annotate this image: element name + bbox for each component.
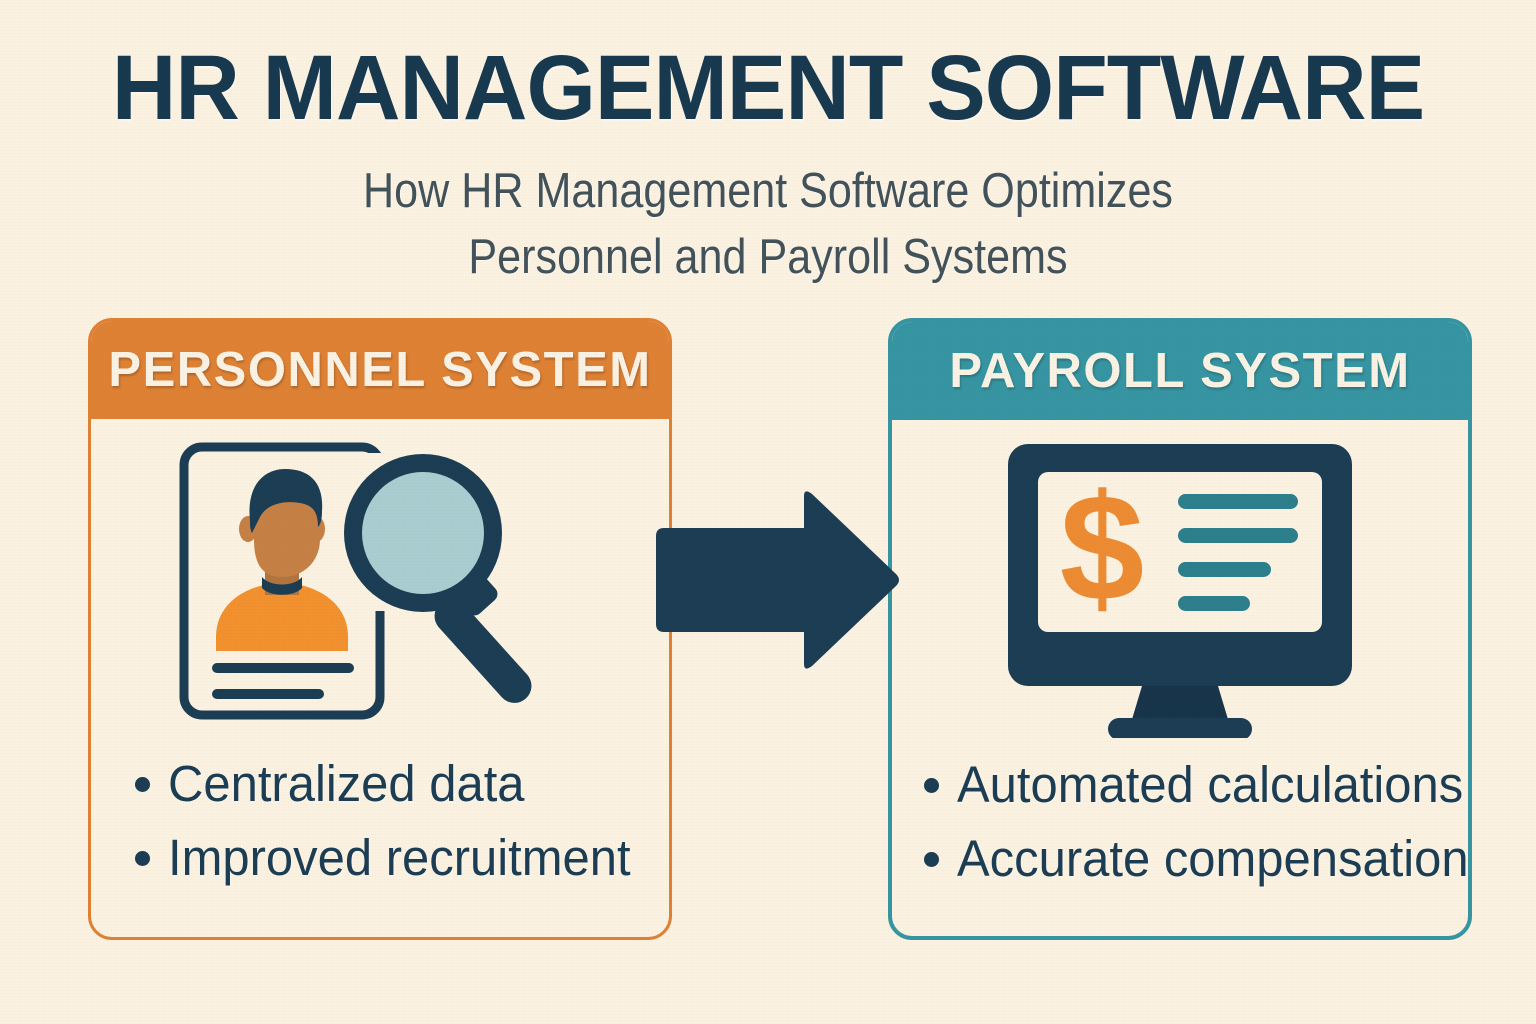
bullet-list-payroll: Automated calculations Accurate compensa… [892, 756, 1468, 888]
id-card-line-2 [212, 689, 324, 699]
dollar-sign-icon: $ [1060, 463, 1145, 633]
page-title: HR MANAGEMENT SOFTWARE [23, 36, 1513, 141]
bullet-dot-icon [135, 777, 150, 792]
card-payroll-system[interactable]: PAYROLL SYSTEM $ [888, 318, 1472, 940]
illustration-payroll: $ [892, 438, 1468, 738]
bullet-list-personnel: Centralized data Improved recruitment [91, 755, 669, 887]
page-subtitle: How HR Management Software Optimizes Per… [92, 158, 1444, 290]
list-item: Accurate compensation [924, 830, 1468, 888]
card-personnel-system[interactable]: PERSONNEL SYSTEM [88, 318, 672, 940]
screen-text-bar-3 [1178, 562, 1271, 577]
card-body-payroll: $ Automated calculations Accurate compen [892, 420, 1468, 940]
card-title-payroll: PAYROLL SYSTEM [949, 343, 1410, 399]
screen-text-bar-1 [1178, 494, 1298, 509]
id-card-with-magnifier-icon [170, 437, 590, 737]
list-item: Improved recruitment [135, 829, 669, 887]
bullet-dot-icon [924, 778, 939, 793]
svg-text:$: $ [1060, 463, 1145, 633]
monitor-with-dollar-icon: $ [990, 438, 1370, 738]
subtitle-line-2: Personnel and Payroll Systems [92, 224, 1444, 290]
subtitle-line-1: How HR Management Software Optimizes [92, 158, 1444, 224]
screen-text-bar-4 [1178, 596, 1250, 611]
list-item: Automated calculations [924, 756, 1468, 814]
connector-arrow [652, 490, 902, 670]
card-header-personnel: PERSONNEL SYSTEM [91, 321, 669, 419]
infographic-canvas: HR MANAGEMENT SOFTWARE How HR Management… [0, 0, 1536, 1024]
illustration-personnel [91, 437, 669, 737]
bullet-label: Centralized data [168, 755, 525, 813]
card-body-personnel: Centralized data Improved recruitment [91, 419, 669, 939]
bullet-label: Accurate compensation [957, 830, 1469, 888]
magnifier-icon [344, 454, 538, 710]
monitor-base [1108, 718, 1252, 738]
right-arrow-icon [652, 490, 902, 670]
bullet-dot-icon [924, 852, 939, 867]
card-header-payroll: PAYROLL SYSTEM [892, 322, 1468, 420]
bullet-dot-icon [135, 851, 150, 866]
list-item: Centralized data [135, 755, 669, 813]
card-title-personnel: PERSONNEL SYSTEM [108, 342, 651, 398]
bullet-label: Automated calculations [957, 756, 1463, 814]
screen-text-bar-2 [1178, 528, 1298, 543]
bullet-label: Improved recruitment [168, 829, 631, 887]
person-avatar [216, 469, 348, 651]
id-card-line-1 [212, 663, 354, 673]
